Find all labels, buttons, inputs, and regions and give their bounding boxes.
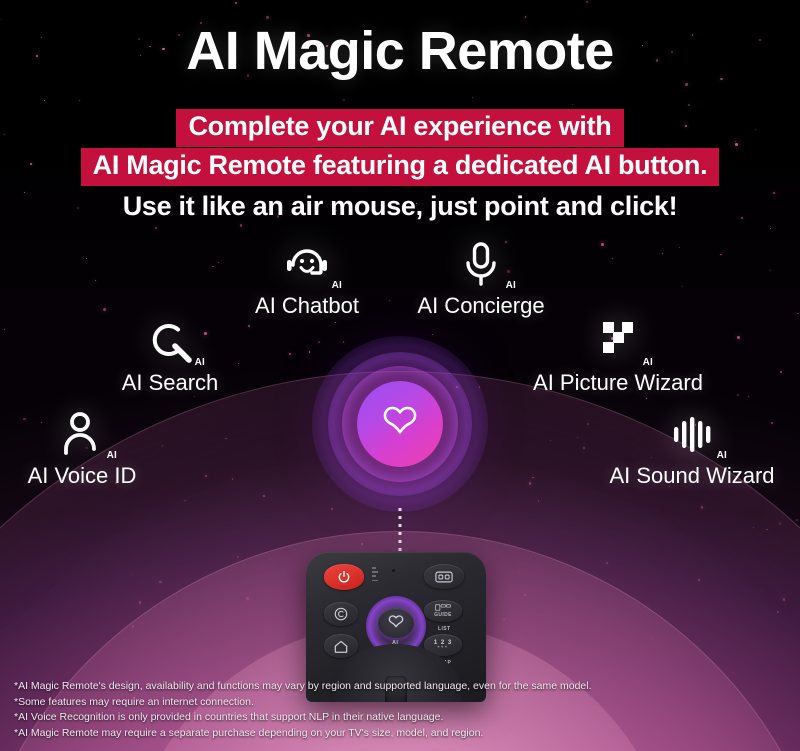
star-particle [720, 254, 721, 255]
pixel-mosaic-icon: AI [592, 315, 644, 367]
star-particle [783, 598, 785, 600]
banner-line-3: Use it like an air mouse, just point and… [111, 189, 690, 227]
star-particle [780, 371, 782, 373]
mic-hole [392, 569, 395, 572]
banner: Complete your AI experience with AI Magi… [0, 109, 800, 227]
feature-chatbot[interactable]: AI AI Chatbot [222, 238, 392, 319]
home-icon [333, 639, 349, 654]
star-particle [770, 228, 771, 229]
star-particle [79, 100, 80, 101]
star-particle [701, 506, 704, 509]
star-particle [688, 104, 690, 106]
star-particle [309, 351, 310, 352]
power-icon [337, 570, 351, 584]
list-side-label: LIST [438, 626, 450, 632]
banner-line-1: Complete your AI experience with [176, 109, 623, 147]
orb-core [357, 381, 443, 467]
star-particle [601, 243, 604, 246]
badge-ai: AI [332, 280, 342, 291]
star-particle [263, 495, 265, 497]
ai-orb[interactable] [312, 336, 488, 512]
banner-row-2: AI Magic Remote featuring a dedicated AI… [0, 148, 800, 186]
ai-button[interactable] [378, 608, 414, 638]
person-icon: AI [56, 408, 108, 460]
guide-icon [435, 604, 451, 611]
star-particle [583, 447, 585, 449]
ai-knot-logo-icon [385, 612, 407, 634]
star-particle [761, 590, 762, 591]
star-particle [246, 597, 249, 600]
feature-picture-wizard[interactable]: AI AI Picture Wizard [523, 315, 713, 396]
keypad-dots: ••• [437, 646, 448, 650]
feature-search[interactable]: AI AI Search [86, 315, 254, 396]
star-particle [685, 83, 688, 86]
banner-row-1: Complete your AI experience with [0, 109, 800, 147]
star-particle [235, 2, 237, 4]
star-particle [682, 286, 683, 287]
badge-ai: AI [195, 357, 205, 368]
captions-button[interactable] [424, 564, 464, 589]
footnotes: *AI Magic Remote's design, availability … [14, 679, 714, 741]
chatbot-headset-icon: AI [281, 238, 333, 290]
captions-icon [435, 571, 453, 583]
star-particle [432, 334, 433, 335]
banner-row-3: Use it like an air mouse, just point and… [0, 189, 800, 227]
star-particle [766, 529, 768, 531]
feature-voice-id[interactable]: AI AI Voice ID [8, 408, 156, 489]
guide-button[interactable]: GUIDE [424, 600, 462, 622]
footnote-4: *AI Magic Remote may require a separate … [14, 726, 714, 742]
star-particle [737, 336, 740, 339]
feature-label-search: AI Search [86, 370, 254, 396]
footnote-3: *AI Voice Recognition is only provided i… [14, 710, 714, 726]
star-particle [586, 1, 587, 2]
badge-ai: AI [643, 357, 653, 368]
badge-ai: AI [506, 280, 516, 291]
star-particle [698, 579, 700, 581]
microphone-icon: AI [455, 238, 507, 290]
sound-wave-icon: AI [666, 408, 718, 460]
power-button[interactable] [324, 564, 364, 590]
settings-dial-button[interactable] [324, 602, 358, 626]
ai-knot-logo-icon [375, 399, 425, 449]
guide-button-label: GUIDE [434, 612, 452, 618]
star-particle [266, 16, 268, 18]
badge-ai: AI [107, 450, 117, 461]
star-particle [606, 562, 608, 564]
page-title: AI Magic Remote [0, 20, 800, 82]
star-particle [753, 527, 754, 528]
dial-icon [333, 606, 349, 622]
home-button[interactable] [324, 634, 358, 658]
ir-led-dots [372, 567, 378, 581]
star-particle [770, 270, 771, 271]
feature-label-sound-wizard: AI Sound Wizard [602, 463, 782, 489]
star-particle [587, 423, 589, 425]
star-particle [524, 594, 526, 596]
banner-line-2: AI Magic Remote featuring a dedicated AI… [81, 148, 720, 186]
magnifier-icon: AI [144, 315, 196, 367]
star-particle [529, 482, 531, 484]
star-particle [159, 581, 161, 583]
star-particle [103, 308, 106, 311]
feature-sound-wizard[interactable]: AI AI Sound Wizard [602, 408, 782, 489]
feature-concierge[interactable]: AI AI Concierge [396, 238, 566, 319]
badge-ai: AI [717, 450, 727, 461]
footnote-1: *AI Magic Remote's design, availability … [14, 679, 714, 695]
feature-label-picture-wizard: AI Picture Wizard [523, 370, 713, 396]
feature-label-voice-id: AI Voice ID [8, 463, 156, 489]
footnote-2: *Some features may require an internet c… [14, 695, 714, 711]
star-particle [225, 438, 227, 440]
